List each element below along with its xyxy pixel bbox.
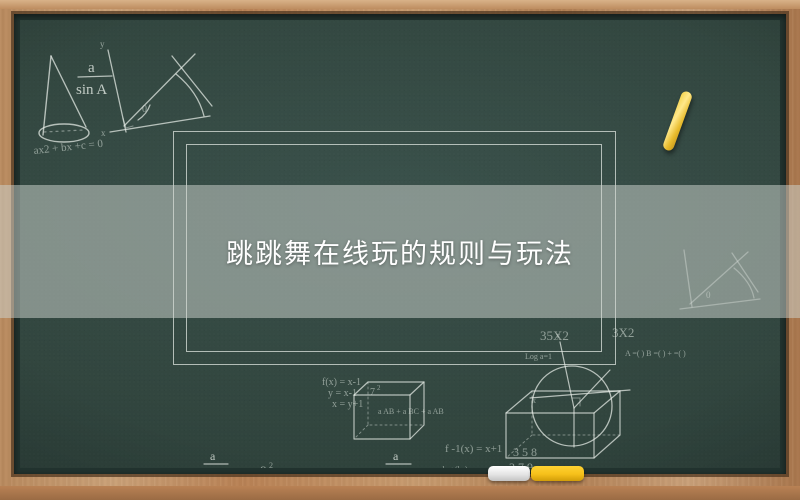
frame-bottom-ledge bbox=[0, 486, 800, 500]
chalk-inverse-function: f -1(x) = x+1 bbox=[445, 443, 502, 455]
chalk-function-1: f(x) = x-1 bbox=[322, 377, 361, 388]
chalk-function-3: x = y+1 bbox=[332, 399, 363, 410]
white-chalk-piece bbox=[488, 466, 530, 481]
chalk-quadratic: ax2 + bx +c = 0 bbox=[33, 138, 104, 157]
svg-text:7: 7 bbox=[370, 387, 375, 398]
svg-text:y: y bbox=[100, 39, 105, 49]
chalk-log-label: a log (bc) bbox=[437, 465, 468, 468]
svg-text:a: a bbox=[393, 449, 399, 463]
svg-text:2: 2 bbox=[269, 461, 273, 468]
title-overlay-band: 跳跳舞在线玩的规则与玩法 bbox=[0, 185, 800, 318]
page-title: 跳跳舞在线玩的规则与玩法 bbox=[226, 232, 574, 271]
svg-text:x: x bbox=[101, 128, 106, 138]
chalk-fraction-numerator: a bbox=[88, 60, 95, 76]
svg-text:sin A: sin A bbox=[202, 467, 225, 468]
svg-text:8: 8 bbox=[260, 463, 267, 468]
svg-text:a AB + a BC + a AB: a AB + a BC + a AB bbox=[378, 407, 444, 416]
yellow-chalk-piece bbox=[531, 466, 584, 481]
svg-text:0: 0 bbox=[142, 104, 147, 115]
frame-top-highlight bbox=[0, 0, 800, 9]
svg-text:sin A: sin A bbox=[384, 467, 407, 468]
chalk-fraction-denominator: sin A bbox=[76, 82, 107, 98]
chalkboard-scene: a sin A ax2 + bx +c = 0 y x 0 7 bbox=[0, 0, 800, 500]
svg-text:2: 2 bbox=[377, 384, 381, 392]
svg-text:a: a bbox=[210, 449, 216, 463]
chalk-sum-row-1: 3 5 8 bbox=[513, 445, 537, 459]
svg-text:A =( ) B =( ) + =( ): A =( ) B =( ) + =( ) bbox=[625, 349, 686, 358]
yellow-chalk-stick bbox=[662, 90, 694, 152]
svg-text:x: x bbox=[532, 396, 536, 405]
chalk-function-2: y = x-1 bbox=[328, 388, 357, 399]
